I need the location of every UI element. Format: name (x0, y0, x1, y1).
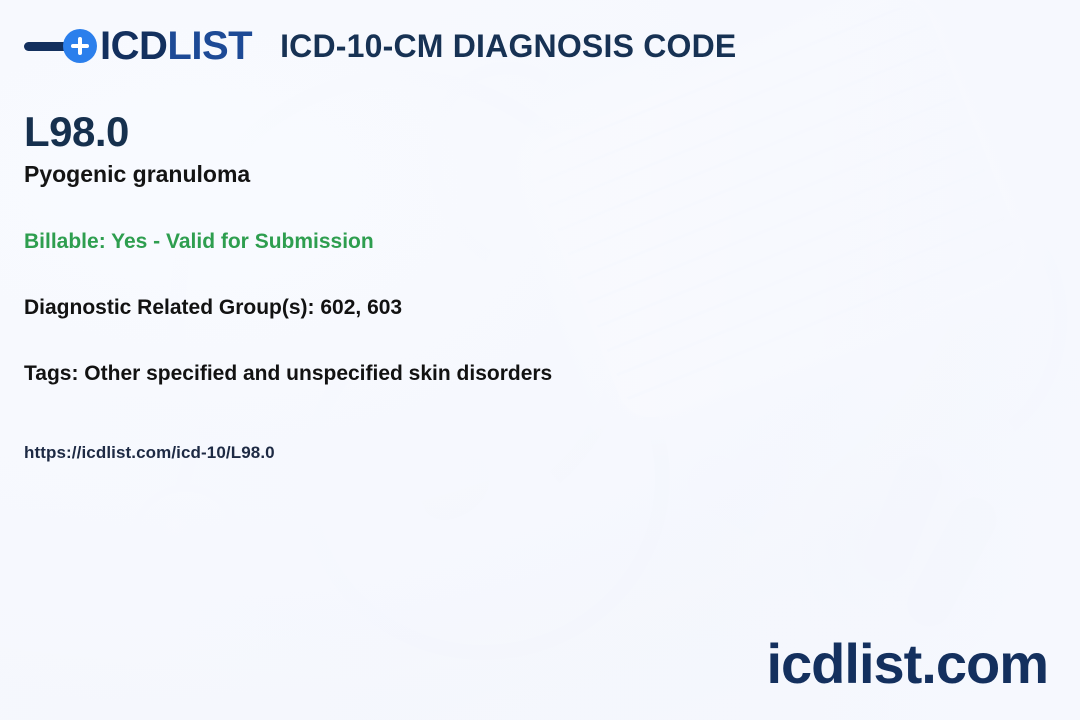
icd-code-card: ICDLIST ICD-10-CM DIAGNOSIS CODE L98.0 P… (0, 0, 1080, 720)
header: ICDLIST ICD-10-CM DIAGNOSIS CODE (24, 26, 736, 66)
plus-circle-icon (63, 29, 97, 63)
logo-wordmark: ICDLIST (100, 26, 252, 66)
tags-line: Tags: Other specified and unspecified sk… (24, 361, 724, 387)
source-url[interactable]: https://icdlist.com/icd-10/L98.0 (24, 443, 275, 463)
billable-status: Billable: Yes - Valid for Submission (24, 229, 724, 255)
footer-brand[interactable]: icdlist.com (766, 636, 1048, 692)
diagnosis-code: L98.0 (24, 110, 724, 154)
code-details: L98.0 Pyogenic granuloma Billable: Yes -… (24, 110, 724, 388)
page-title: ICD-10-CM DIAGNOSIS CODE (280, 30, 736, 62)
diagnosis-description: Pyogenic granuloma (24, 160, 724, 189)
site-logo[interactable]: ICDLIST (24, 26, 252, 66)
drg-line: Diagnostic Related Group(s): 602, 603 (24, 295, 724, 321)
plus-vertical-stroke (78, 37, 82, 55)
logo-mark (24, 29, 97, 63)
logo-word-icd: ICD (100, 24, 167, 68)
logo-word-list: LIST (167, 24, 252, 68)
card-content: ICDLIST ICD-10-CM DIAGNOSIS CODE L98.0 P… (0, 0, 1080, 720)
